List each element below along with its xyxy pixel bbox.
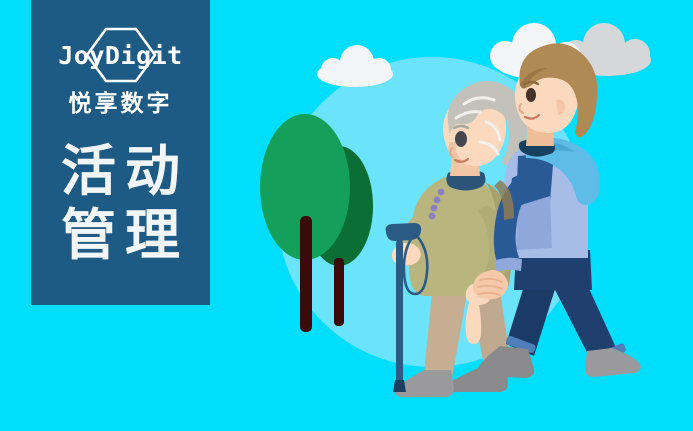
cane-tip bbox=[393, 380, 406, 392]
page-title-line1: 活动 bbox=[52, 140, 189, 204]
tree-front-trunk bbox=[300, 216, 312, 332]
title-panel: JoyDigit 悦享数字 活动 管理 bbox=[31, 0, 210, 305]
elder-eye bbox=[455, 131, 467, 147]
cane-shaft bbox=[396, 240, 403, 382]
brand-wordmark: JoyDigit bbox=[58, 43, 182, 68]
cane-handle bbox=[386, 223, 422, 241]
youth-eye bbox=[526, 88, 536, 102]
tree-back-trunk bbox=[334, 258, 344, 326]
brand-name-chinese: 悦享数字 bbox=[69, 93, 173, 116]
page-title-line2: 管理 bbox=[52, 204, 189, 268]
page-title: 活动 管理 bbox=[52, 140, 189, 268]
poster-canvas: JoyDigit 悦享数字 活动 管理 bbox=[0, 0, 693, 431]
brand-logo: JoyDigit bbox=[46, 26, 196, 84]
